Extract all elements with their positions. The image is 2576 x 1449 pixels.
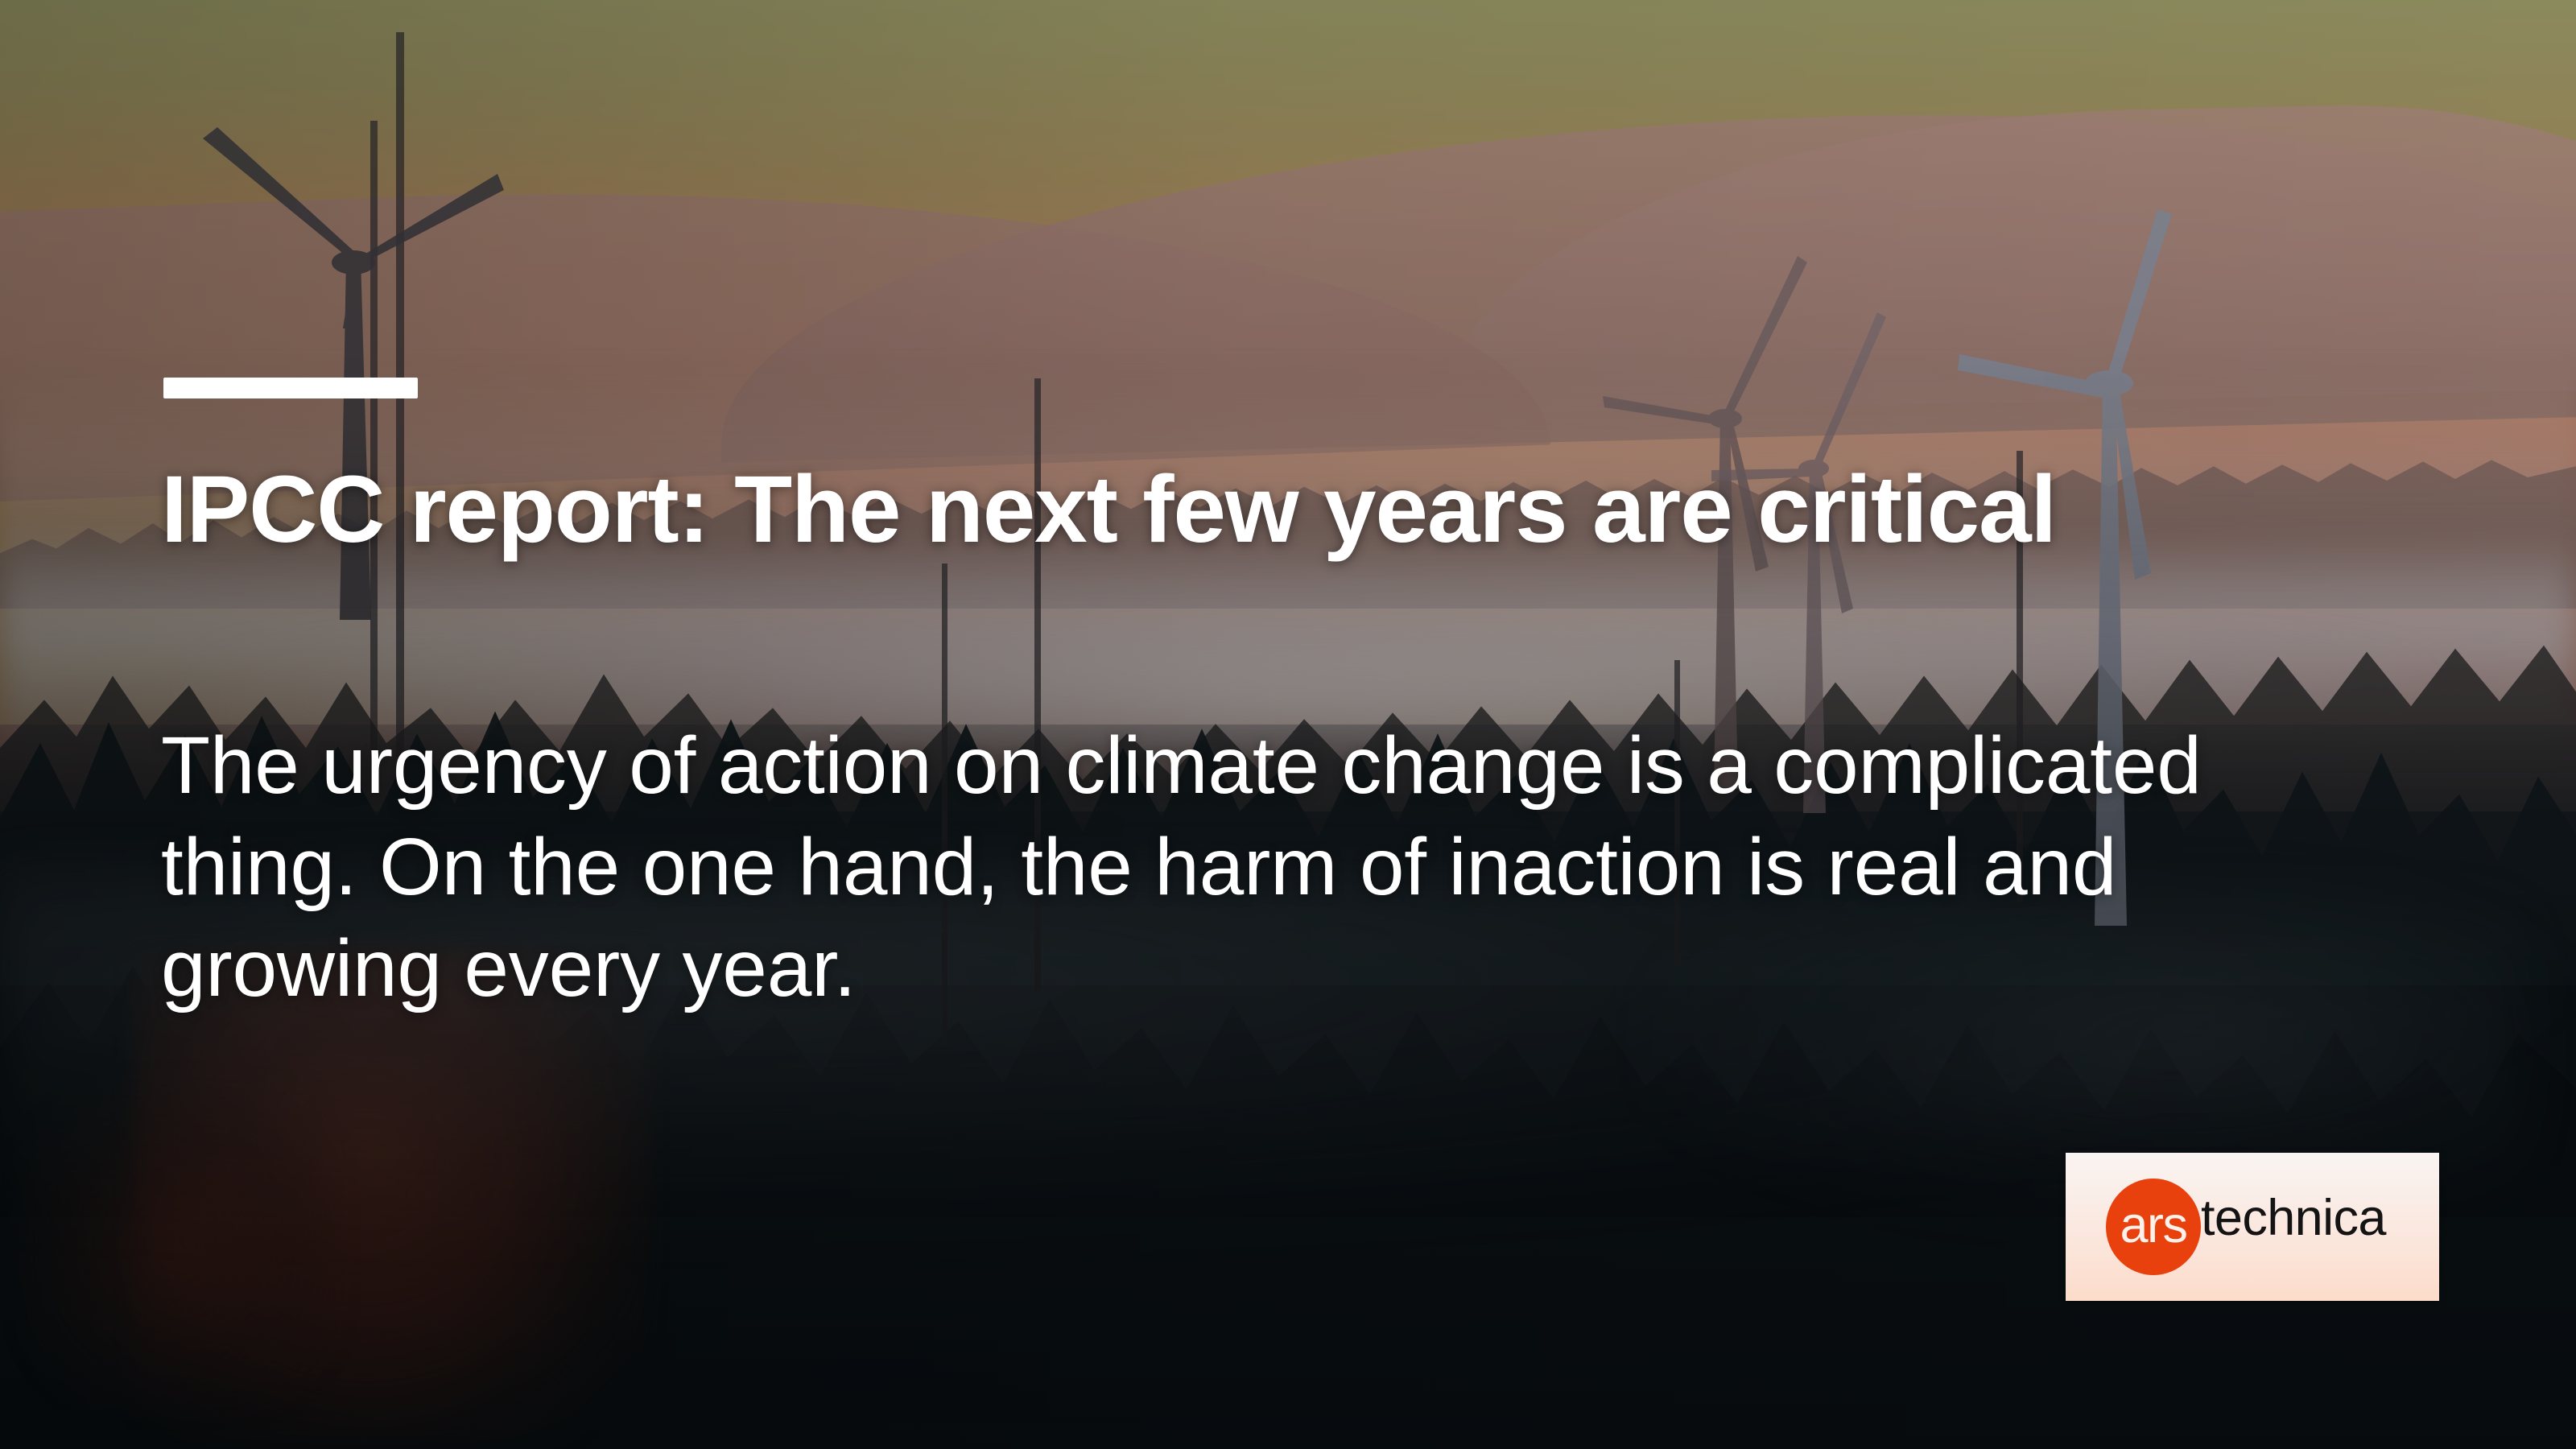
accent-rule (163, 378, 418, 398)
ars-technica-logo[interactable]: ars technica (2066, 1153, 2439, 1301)
ars-logo-mark: ars (2106, 1179, 2201, 1275)
page-title: IPCC report: The next few years are crit… (161, 455, 2109, 564)
article-hero-card: IPCC report: The next few years are crit… (0, 0, 2576, 1449)
article-standfirst: The urgency of action on climate change … (161, 715, 2334, 1019)
ars-logo-wordmark: technica (2201, 1193, 2386, 1244)
ars-logo-mark-text: ars (2120, 1200, 2186, 1251)
